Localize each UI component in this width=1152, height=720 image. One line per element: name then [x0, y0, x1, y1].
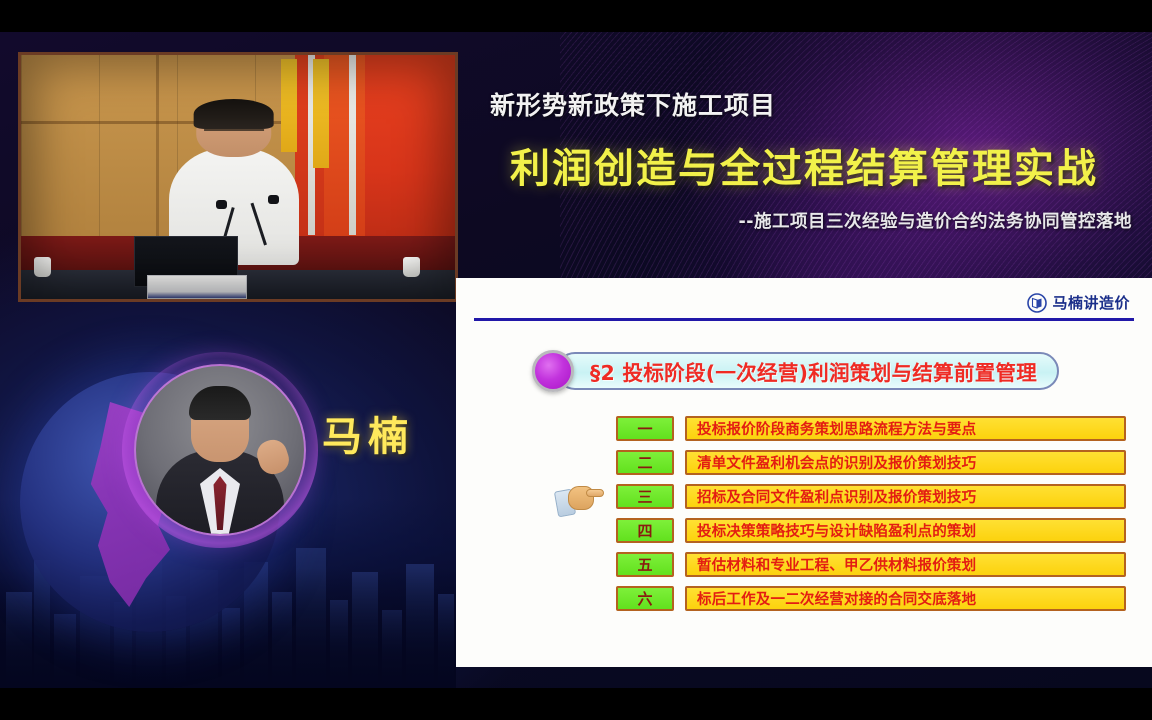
list-item-text: 暂估材料和专业工程、甲乙供材料报价策划	[685, 552, 1126, 577]
list-item-text: 投标决策策略技巧与设计缺陷盈利点的策划	[685, 518, 1126, 543]
speaker-video-feed[interactable]	[18, 52, 458, 302]
list-item[interactable]: 四 投标决策策略技巧与设计缺陷盈利点的策划	[616, 518, 1126, 543]
header-divider	[474, 318, 1134, 321]
screen-root: 马楠 新形势新政策下施工项目 利润创造与全	[0, 0, 1152, 720]
section-title-pill: §2 投标阶段(一次经营)利润策划与结算前置管理	[556, 352, 1059, 390]
brand-name: 马楠讲造价	[1052, 292, 1130, 313]
video-nameplate	[147, 275, 247, 299]
bullet-circle-icon	[532, 350, 574, 392]
video-cup-right	[403, 257, 420, 277]
agenda-list: 一 投标报价阶段商务策划思路流程方法与要点 二 清单文件盈利机会点的识别及报价策…	[616, 416, 1126, 620]
list-item[interactable]: 三 招标及合同文件盈利点识别及报价策划技巧	[616, 484, 1126, 509]
presentation-slide: 马楠讲造价 §2 投标阶段(一次经营)利润策划与结算前置管理 一 投标报价阶段商…	[456, 278, 1152, 667]
list-item-number: 四	[616, 518, 674, 543]
list-item-text: 清单文件盈利机会点的识别及报价策划技巧	[685, 450, 1126, 475]
speaker-name-label: 马楠	[322, 404, 442, 462]
section-title-banner: §2 投标阶段(一次经营)利润策划与结算前置管理	[532, 350, 1059, 392]
speaker-portrait-avatar	[134, 364, 306, 536]
list-item-number: 一	[616, 416, 674, 441]
list-item-number: 二	[616, 450, 674, 475]
video-cup-left	[34, 257, 51, 277]
section-title-text: §2 投标阶段(一次经营)利润策划与结算前置管理	[590, 356, 1037, 386]
list-item-text: 投标报价阶段商务策划思路流程方法与要点	[685, 416, 1126, 441]
brand-logo: 马楠讲造价	[1027, 292, 1130, 313]
title-line-3-subtitle: --施工项目三次经验与造价合约法务协同管控落地	[468, 208, 1140, 233]
list-item[interactable]: 二 清单文件盈利机会点的识别及报价策划技巧	[616, 450, 1126, 475]
list-item[interactable]: 六 标后工作及一二次经营对接的合同交底落地	[616, 586, 1126, 611]
letterbox-bottom	[0, 688, 1152, 720]
list-item[interactable]: 一 投标报价阶段商务策划思路流程方法与要点	[616, 416, 1126, 441]
list-item-number: 六	[616, 586, 674, 611]
title-line-2-main: 利润创造与全过程结算管理实战	[468, 136, 1140, 194]
list-item-number: 三	[616, 484, 674, 509]
list-item[interactable]: 五 暂估材料和专业工程、甲乙供材料报价策划	[616, 552, 1126, 577]
title-line-1: 新形势新政策下施工项目	[490, 86, 1140, 122]
list-item-number: 五	[616, 552, 674, 577]
book-logo-icon	[1027, 293, 1047, 313]
letterbox-top	[0, 0, 1152, 32]
pointing-hand-icon	[556, 480, 604, 520]
list-item-text: 招标及合同文件盈利点识别及报价策划技巧	[685, 484, 1126, 509]
list-item-text: 标后工作及一二次经营对接的合同交底落地	[685, 586, 1126, 611]
title-block: 新形势新政策下施工项目 利润创造与全过程结算管理实战 --施工项目三次经验与造价…	[468, 86, 1140, 233]
